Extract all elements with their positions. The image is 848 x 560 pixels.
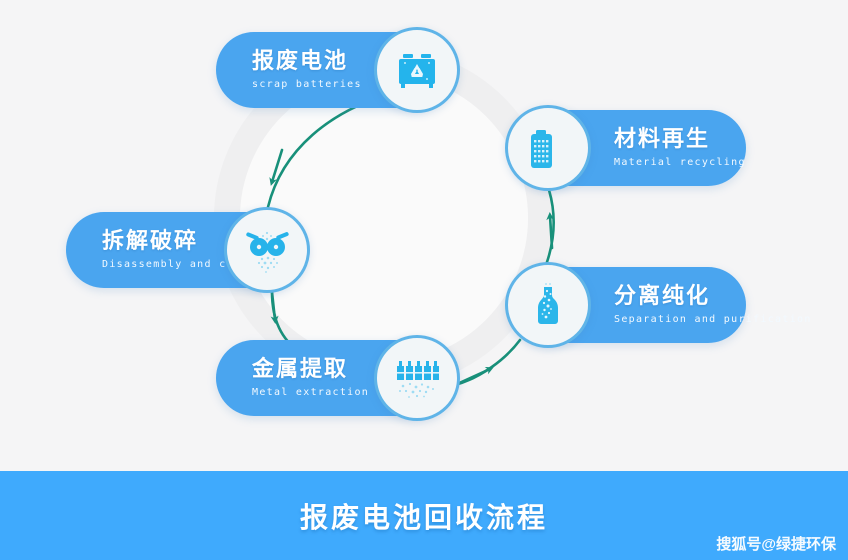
arrow-disassembly-to-metal-head [272,292,275,320]
node-title: 报废电池 [252,48,362,73]
node-subtitle: Metal extraction [252,386,369,400]
node-subtitle: Separation and purification [614,313,812,327]
bottom-banner: 报废电池回收流程 搜狐号@绿捷环保 [0,471,848,560]
watermark: 搜狐号@绿捷环保 [716,533,836,554]
node-text-block: 金属提取 Metal extraction [216,356,369,399]
node-title: 分离纯化 [614,283,812,308]
purification-bottle-icon[interactable] [505,262,591,348]
arrow-scrap-to-disassembly [268,92,396,207]
infographic-canvas: 报废电池 scrap batteries [0,0,848,560]
arrow-metal-to-separation-head [455,369,490,385]
arrow-metal-to-separation [455,340,520,385]
battery-grid-icon[interactable] [505,105,591,191]
arrow-separation-to-material-head [550,216,552,248]
node-title: 材料再生 [614,126,746,151]
crusher-icon[interactable] [224,207,310,293]
banner-title: 报废电池回收流程 [300,496,548,536]
node-subtitle: Material recycling [614,156,746,170]
node-text-block: 报废电池 scrap batteries [216,48,362,91]
metal-extraction-icon[interactable] [374,335,460,421]
node-title: 金属提取 [252,356,369,381]
battery-recycle-icon[interactable] [374,27,460,113]
node-subtitle: scrap batteries [252,78,362,92]
